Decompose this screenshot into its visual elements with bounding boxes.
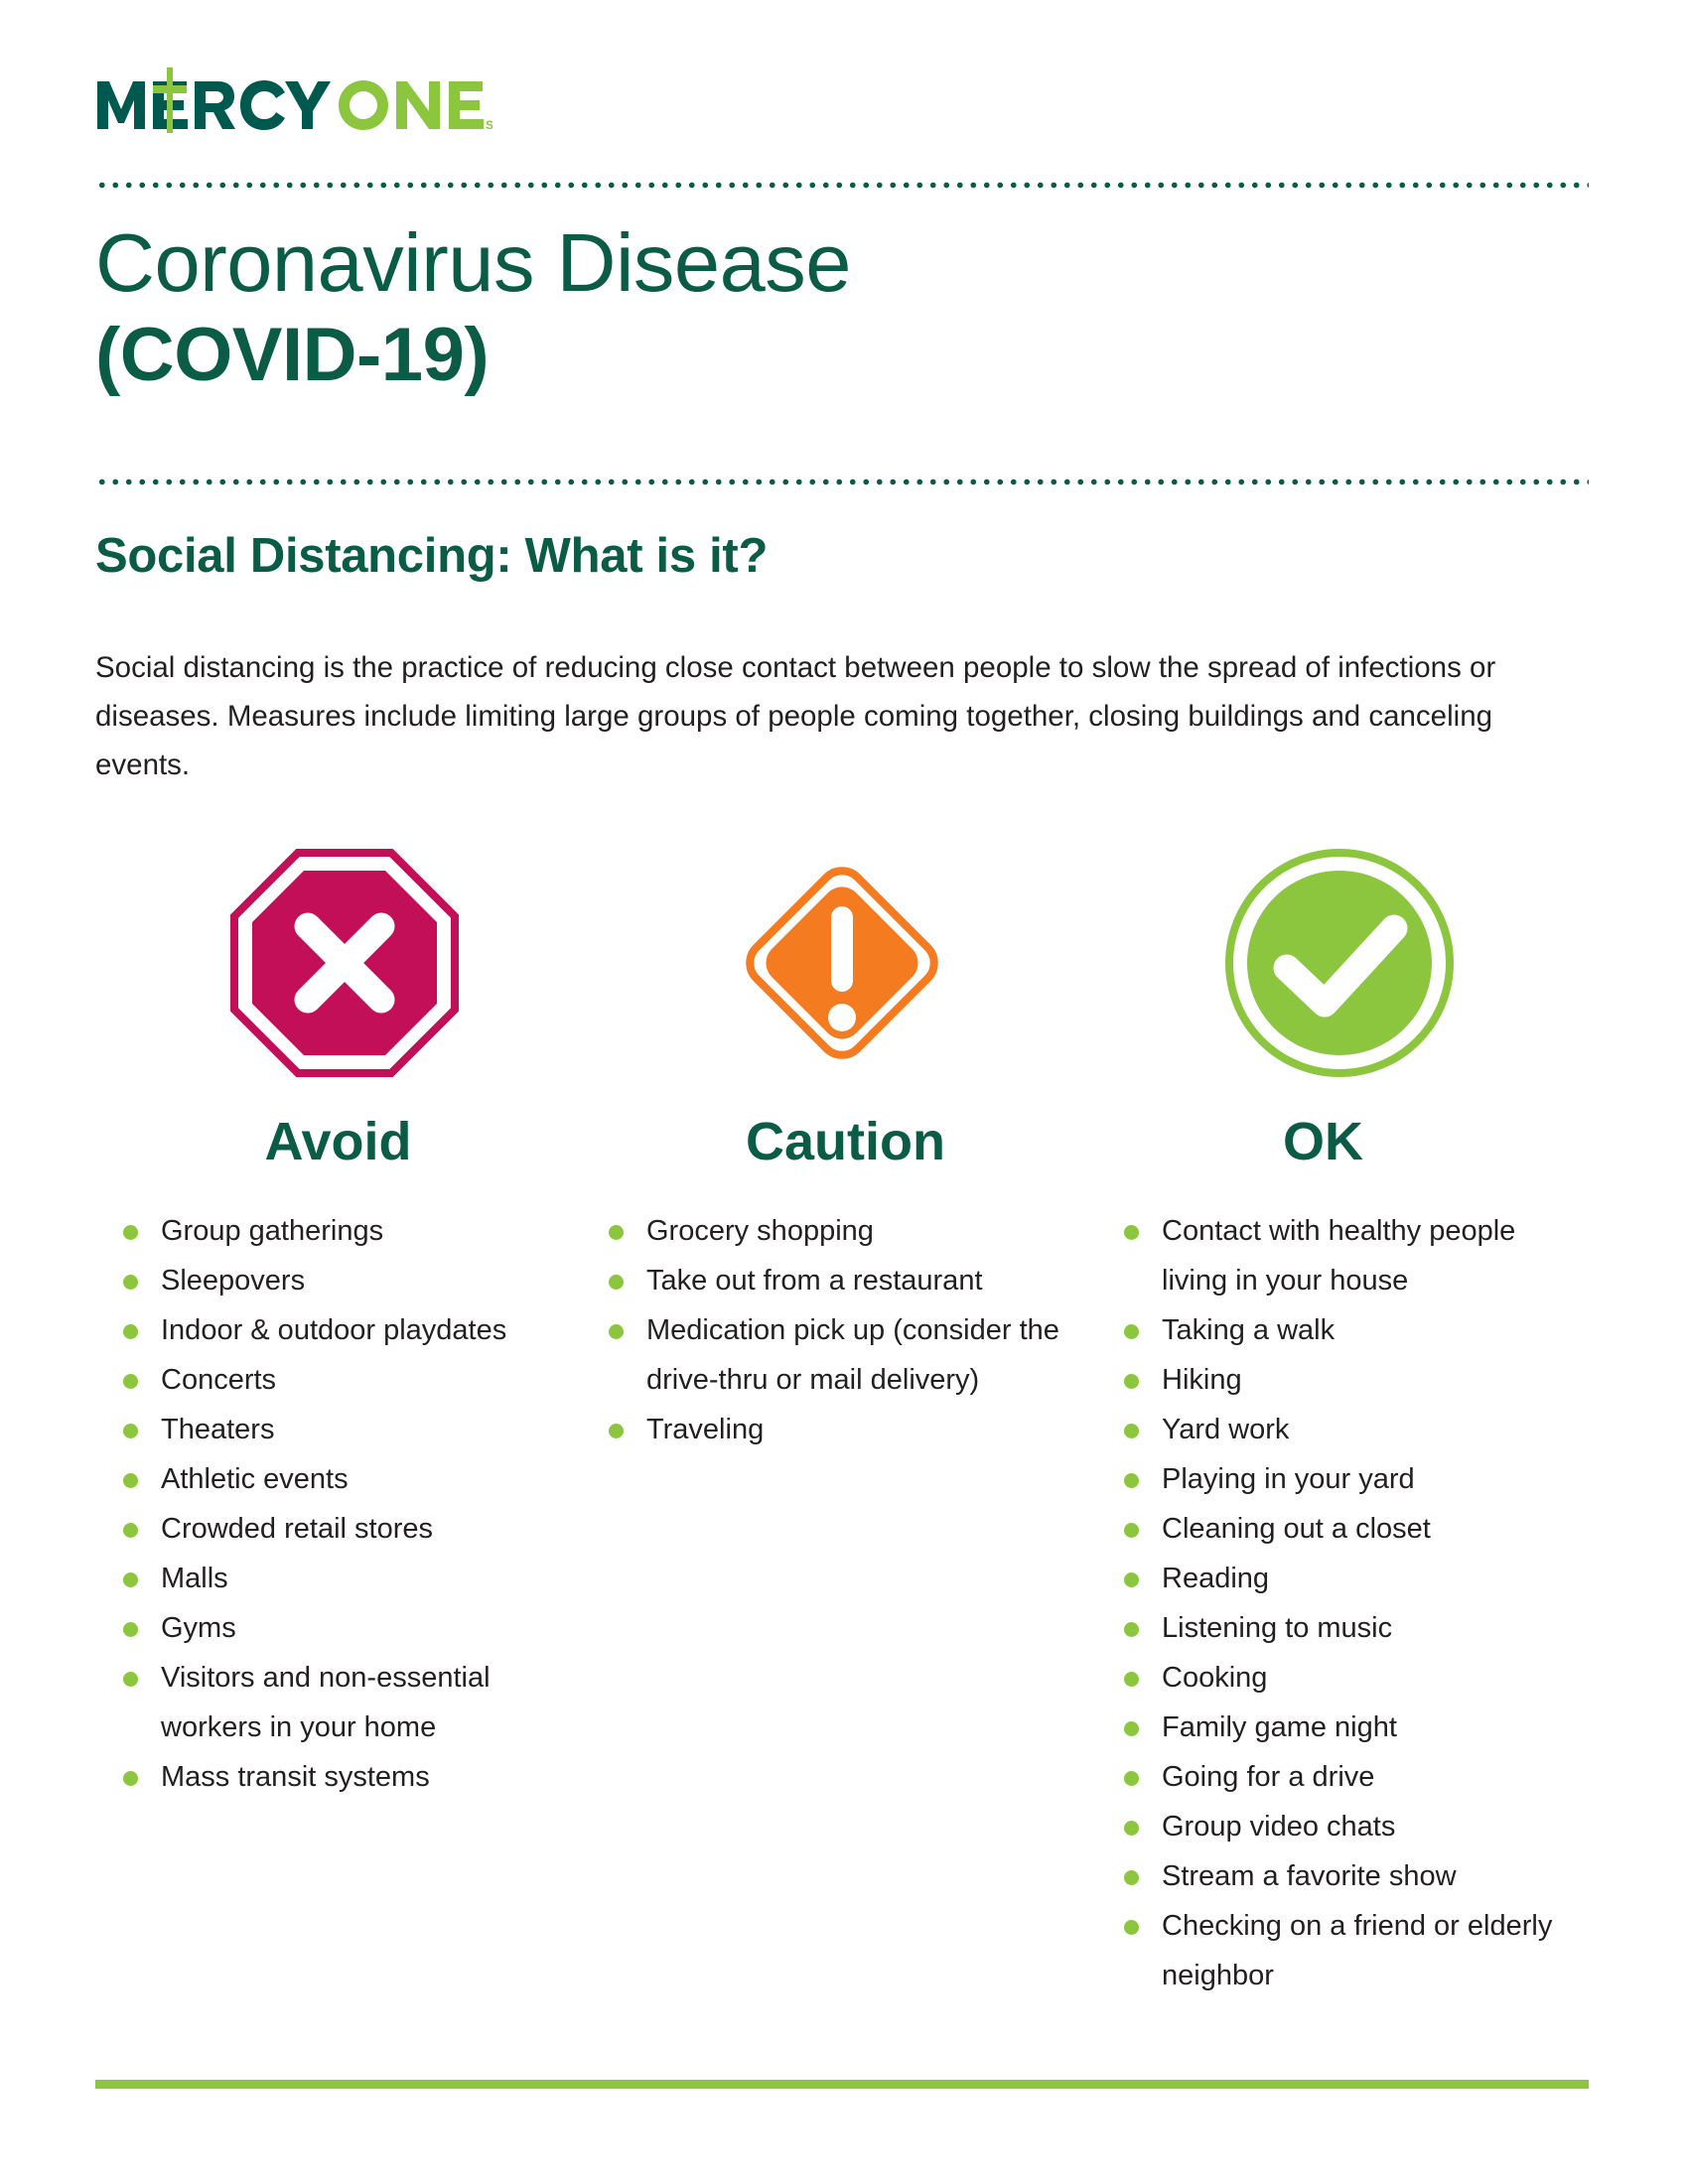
list-item: Going for a drive: [1118, 1752, 1588, 1802]
column-ok: OK Contact with healthy people living in…: [1090, 839, 1588, 2000]
divider-middle: [95, 478, 1589, 485]
section-heading: Social Distancing: What is it?: [95, 526, 768, 586]
list-item: Medication pick up (consider the drive-t…: [603, 1305, 1090, 1405]
list-item: Family game night: [1118, 1703, 1588, 1752]
list-item: Cleaning out a closet: [1118, 1504, 1588, 1554]
list-item: Yard work: [1118, 1405, 1588, 1454]
list-item: Take out from a restaurant: [603, 1256, 1090, 1305]
list-item: Sleepovers: [117, 1256, 593, 1305]
section-intro-paragraph: Social distancing is the practice of red…: [95, 643, 1555, 789]
list-item: Traveling: [603, 1405, 1090, 1454]
avoid-list: Group gatherings Sleepovers Indoor & out…: [95, 1206, 593, 1802]
column-avoid: Avoid Group gatherings Sleepovers Indoor…: [95, 839, 593, 2000]
list-item: Mass transit systems: [117, 1752, 593, 1802]
mercyone-logo: SM: [95, 68, 492, 133]
list-item: Theaters: [117, 1405, 593, 1454]
column-heading-caution: Caution: [597, 1111, 1094, 1172]
list-item: Hiking: [1118, 1355, 1588, 1405]
circle-check-icon: [1225, 849, 1454, 1077]
mercyone-logo-svg: SM: [95, 68, 492, 133]
list-item: Concerts: [117, 1355, 593, 1405]
title-line-2: (COVID-19): [95, 310, 1485, 401]
svg-text:SM: SM: [486, 118, 492, 132]
column-heading-ok: OK: [1074, 1111, 1572, 1172]
list-item: Checking on a friend or elderly neighbor: [1118, 1901, 1588, 2000]
avoid-icon-box: [95, 839, 593, 1087]
list-item: Reading: [1118, 1554, 1588, 1603]
list-item: Athletic events: [117, 1454, 593, 1504]
list-item: Cooking: [1118, 1653, 1588, 1703]
title-line-1: Coronavirus Disease: [95, 216, 1485, 310]
category-columns: Avoid Group gatherings Sleepovers Indoor…: [95, 839, 1589, 2000]
list-item: Crowded retail stores: [117, 1504, 593, 1554]
list-item: Gyms: [117, 1603, 593, 1653]
list-item: Taking a walk: [1118, 1305, 1588, 1355]
divider-top: [95, 182, 1589, 189]
list-item: Listening to music: [1118, 1603, 1588, 1653]
caution-list: Grocery shopping Take out from a restaur…: [593, 1206, 1090, 1454]
list-item: Stream a favorite show: [1118, 1851, 1588, 1901]
list-item: Playing in your yard: [1118, 1454, 1588, 1504]
column-heading-avoid: Avoid: [89, 1111, 587, 1172]
list-item: Indoor & outdoor playdates: [117, 1305, 593, 1355]
caution-icon-box: [593, 839, 1090, 1087]
list-item: Malls: [117, 1554, 593, 1603]
list-item: Group video chats: [1118, 1802, 1588, 1851]
column-caution: Caution Grocery shopping Take out from a…: [593, 839, 1090, 2000]
list-item: Contact with healthy people living in yo…: [1118, 1206, 1588, 1305]
list-item: Group gatherings: [117, 1206, 593, 1256]
list-item: Grocery shopping: [603, 1206, 1090, 1256]
octagon-x-icon: [230, 849, 459, 1077]
ok-list: Contact with healthy people living in yo…: [1090, 1206, 1588, 2000]
diamond-exclamation-icon: [728, 849, 956, 1077]
poster-page: SM Coronavirus Disease (COVID-19) Social…: [0, 0, 1688, 2184]
page-title: Coronavirus Disease (COVID-19): [95, 216, 1485, 401]
footer-accent-bar: [95, 2080, 1589, 2089]
list-item: Visitors and non-essential workers in yo…: [117, 1653, 593, 1752]
ok-icon-box: [1090, 839, 1588, 1087]
